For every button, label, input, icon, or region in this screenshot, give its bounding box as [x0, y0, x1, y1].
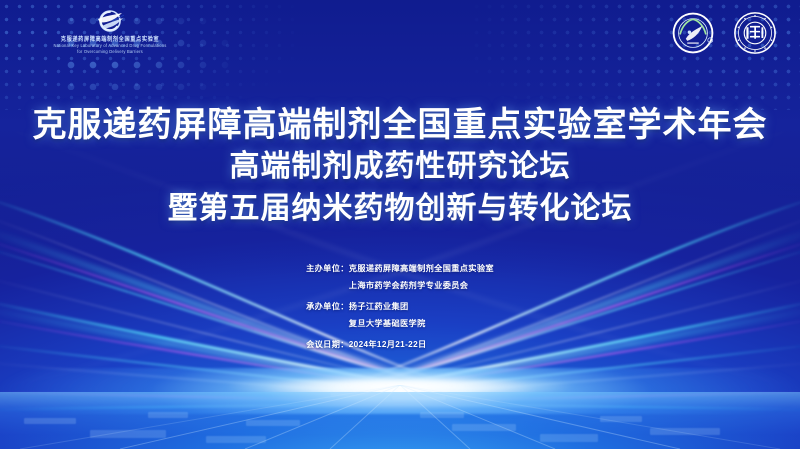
- date-row: 会议日期： 2024年12月21-22日: [306, 338, 494, 350]
- perspective-floor: [0, 385, 800, 449]
- floor-plate: [90, 430, 166, 438]
- partner-logos: [670, 10, 778, 56]
- organizer-row: 承办单位： 扬子江药业集团 复旦大学基础医学院: [306, 300, 494, 329]
- info-block: 主办单位： 克服递药屏障高端制剂全国重点实验室 上海市药学会药剂学专业委员会 承…: [0, 262, 800, 350]
- organizer-value: 复旦大学基础医学院: [349, 317, 426, 329]
- floor-plate: [246, 420, 300, 426]
- lab-logo-cn-name: 克服递药屏障高端制剂全国重点实验室: [61, 35, 159, 43]
- organizer-value: 扬子江药业集团: [349, 300, 426, 312]
- dove-swoosh-emblem-icon: [93, 9, 127, 35]
- title-line-2: 高端制剂成药性研究论坛: [0, 146, 800, 188]
- host-row: 主办单位： 克服递药屏障高端制剂全国重点实验室 上海市药学会药剂学专业委员会: [306, 262, 494, 291]
- organizer-label: 承办单位：: [306, 300, 349, 312]
- shanghai-pharmaceutical-association-seal-icon: [670, 10, 716, 56]
- floor-plate: [24, 418, 76, 424]
- floor-plate: [452, 424, 516, 431]
- host-value: 克服递药屏障高端制剂全国重点实验室: [349, 262, 494, 274]
- title-line-3: 暨第五届纳米药物创新与转化论坛: [0, 188, 800, 230]
- floor-plate: [540, 434, 598, 442]
- floor-plate: [600, 416, 642, 422]
- floor-plate: [650, 428, 720, 435]
- host-label: 主办单位：: [306, 262, 349, 274]
- floor-plate: [148, 412, 188, 418]
- floor-plate: [206, 436, 266, 443]
- date-label: 会议日期：: [306, 338, 349, 350]
- title-block: 克服递药屏障高端制剂全国重点实验室学术年会 高端制剂成药性研究论坛 暨第五届纳米…: [0, 104, 800, 230]
- fudan-university-seal-icon: [732, 10, 778, 56]
- date-value: 2024年12月21-22日: [349, 338, 427, 350]
- title-line-1: 克服递药屏障高端制剂全国重点实验室学术年会: [0, 104, 800, 146]
- host-value: 上海市药学会药剂学专业委员会: [349, 279, 494, 291]
- floor-plate: [392, 396, 446, 400]
- conference-banner: 克服递药屏障高端制剂全国重点实验室 National Key Laborator…: [0, 0, 800, 449]
- lab-logo: 克服递药屏障高端制剂全国重点实验室 National Key Laborator…: [30, 9, 190, 61]
- floor-plate: [330, 392, 376, 396]
- lab-logo-en-line2: for Overcoming Delivery Barriers: [77, 49, 143, 55]
- floor-plate: [420, 412, 464, 418]
